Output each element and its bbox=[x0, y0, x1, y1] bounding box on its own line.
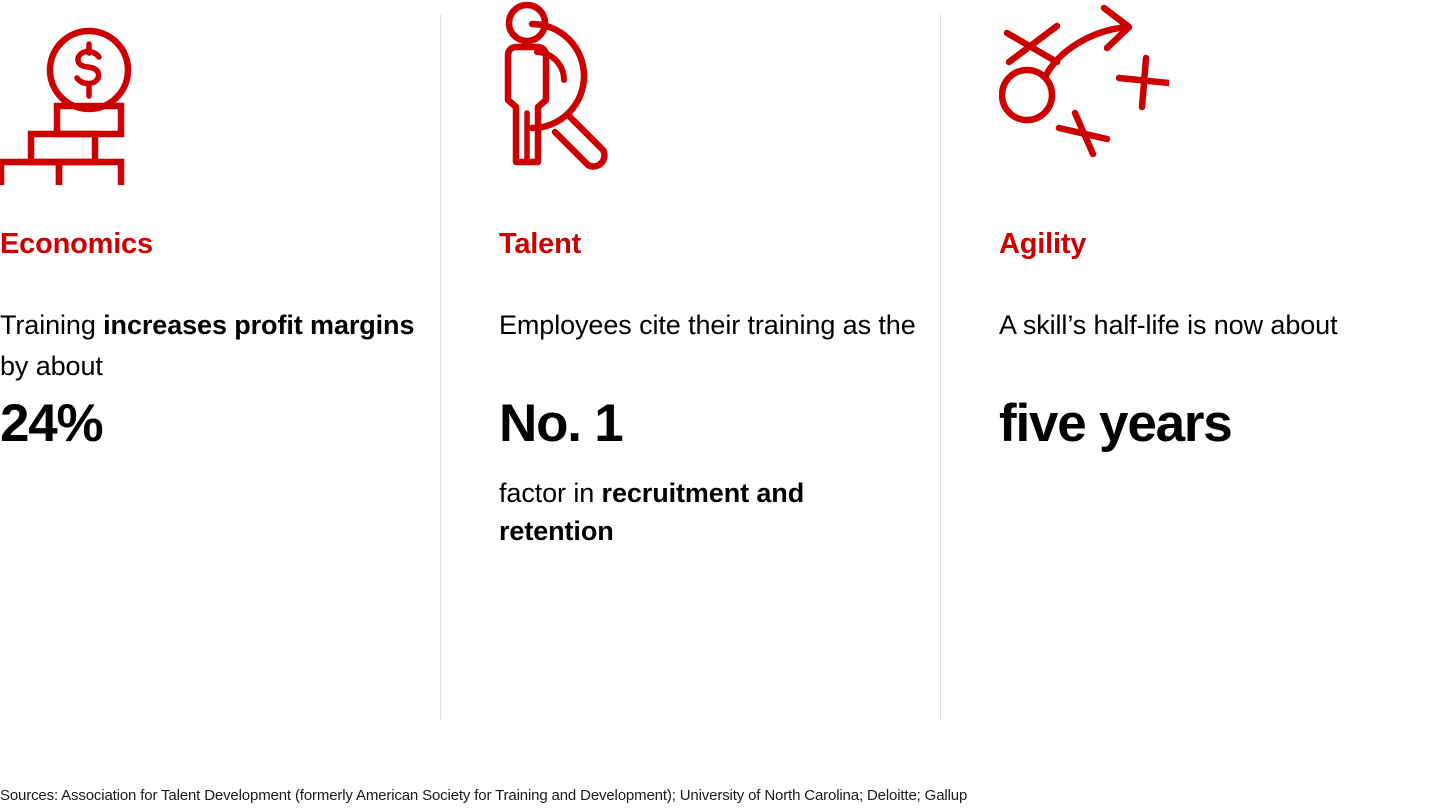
column-lede-talent: Employees cite their training as the bbox=[499, 305, 919, 346]
coin-on-brick-stack-icon bbox=[0, 0, 260, 185]
column-agility: Agility A skill’s half-life is now about… bbox=[999, 0, 1419, 730]
tail-segment-plain: factor in bbox=[499, 478, 602, 508]
column-heading-talent: Talent bbox=[499, 227, 581, 261]
infographic-board: Economics Training increases profit marg… bbox=[0, 0, 1440, 730]
stat-value-talent: No. 1 bbox=[499, 395, 623, 453]
lede-segment-plain: Training bbox=[0, 310, 103, 340]
column-lede-economics: Training increases profit margins by abo… bbox=[0, 305, 420, 387]
sources-footnote: Sources: Association for Talent Developm… bbox=[0, 786, 1440, 805]
strategy-playbook-icon bbox=[999, 0, 1259, 185]
lede-segment-bold: increases profit margins bbox=[103, 310, 414, 340]
column-tail-talent: factor in recruitment and retention bbox=[499, 474, 919, 550]
column-talent: Talent Employees cite their training as … bbox=[499, 0, 919, 730]
stat-value-agility: five years bbox=[999, 395, 1232, 453]
person-with-magnifying-glass-icon bbox=[499, 0, 759, 185]
stat-value-economics: 24% bbox=[0, 395, 102, 453]
column-heading-agility: Agility bbox=[999, 227, 1086, 261]
column-economics: Economics Training increases profit marg… bbox=[0, 0, 420, 730]
column-divider-2 bbox=[940, 14, 941, 720]
column-divider-1 bbox=[440, 14, 441, 720]
lede-segment-plain-2: by about bbox=[0, 351, 103, 381]
column-heading-economics: Economics bbox=[0, 227, 153, 261]
column-lede-agility: A skill’s half-life is now about bbox=[999, 305, 1419, 346]
